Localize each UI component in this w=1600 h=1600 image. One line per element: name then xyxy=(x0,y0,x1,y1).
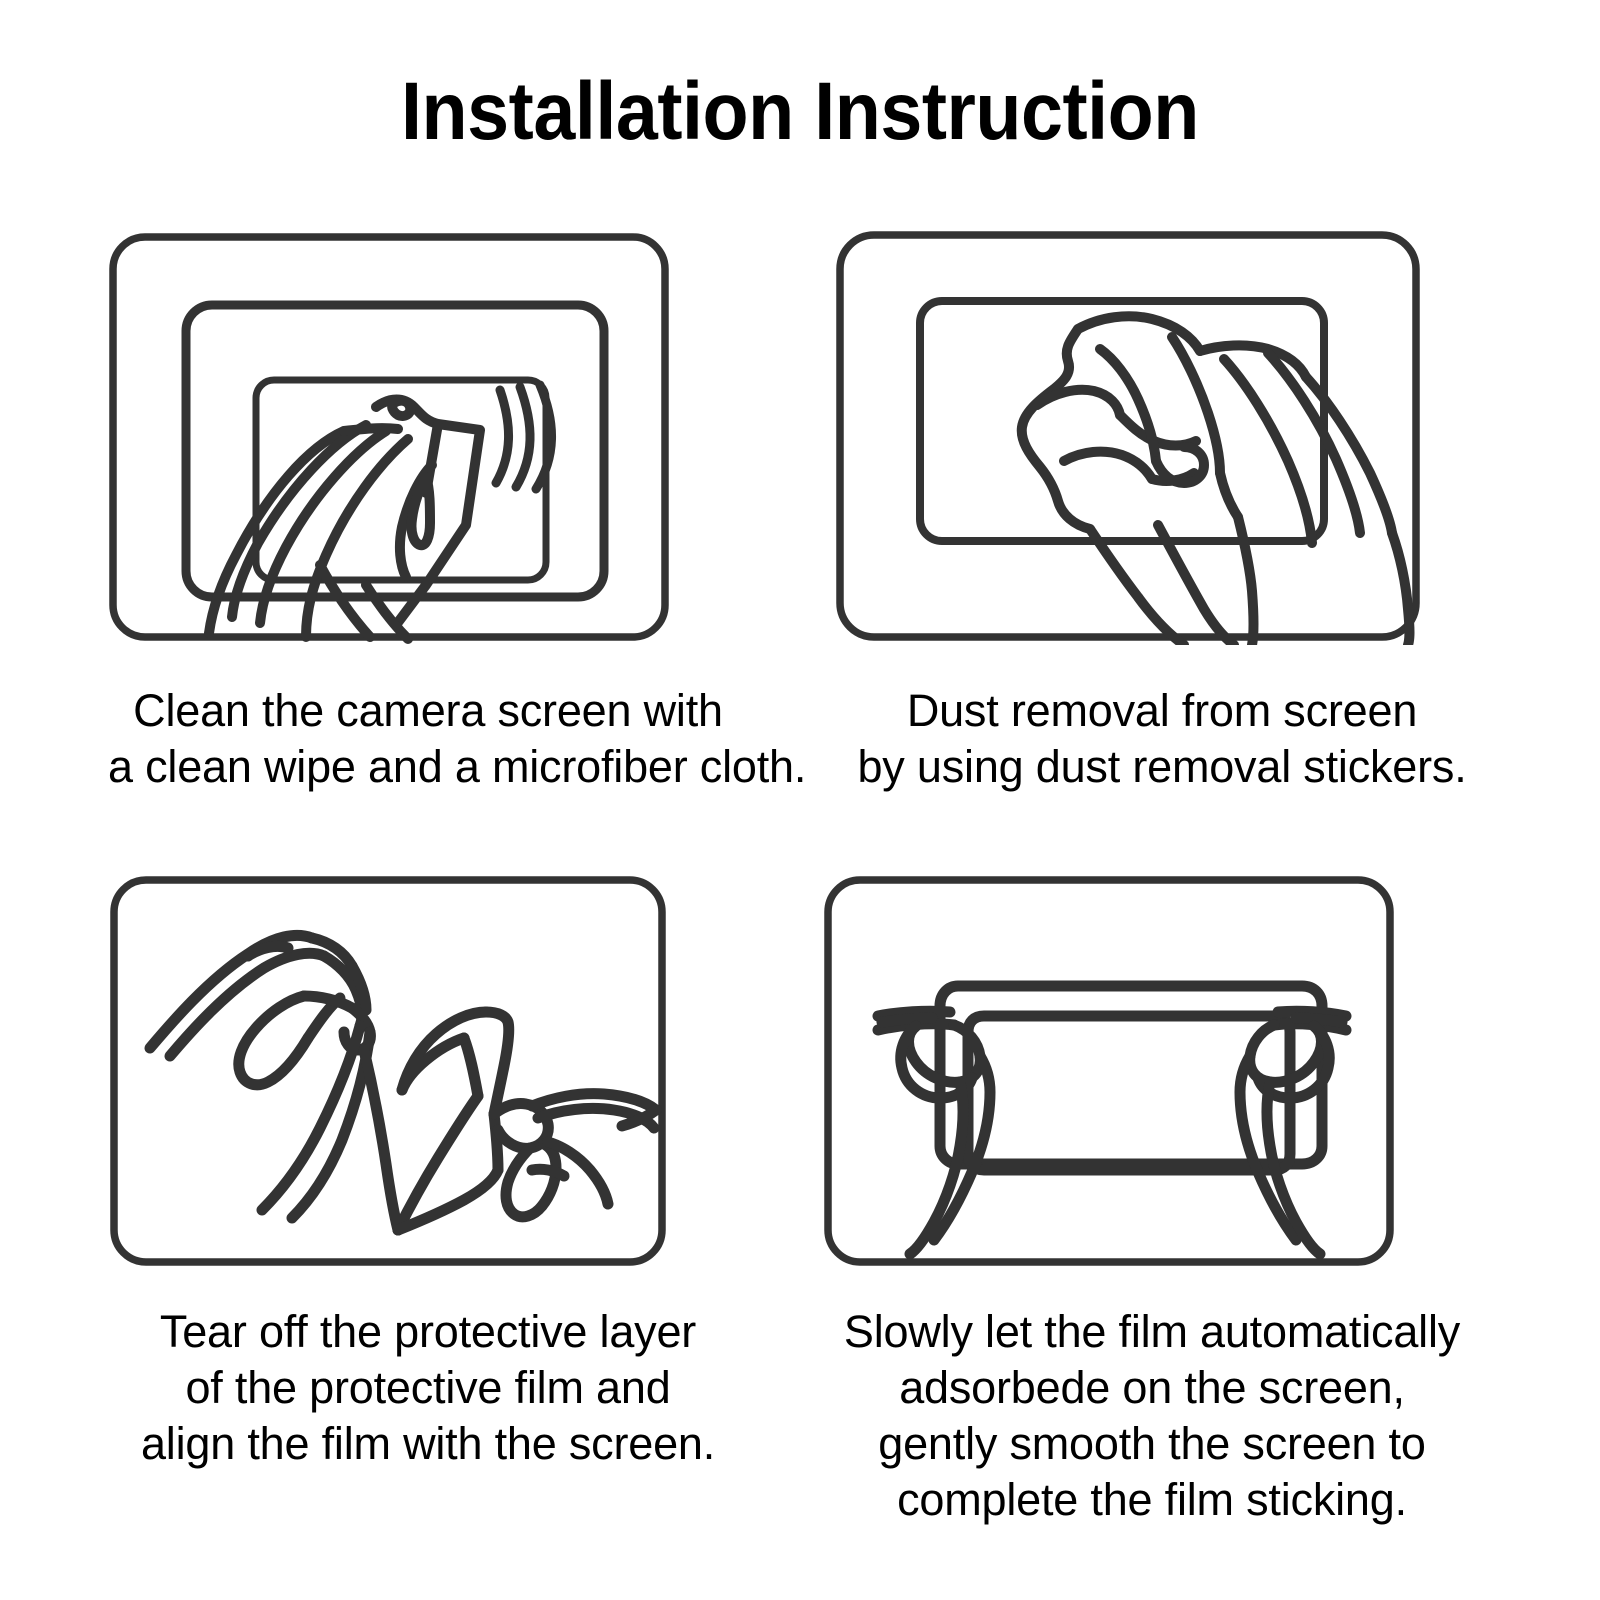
caption-line: gently smooth the screen to xyxy=(822,1416,1482,1472)
step-1-caption: Clean the camera screen with a clean wip… xyxy=(108,683,748,795)
step-3: Tear off the protective layer of the pro… xyxy=(108,870,748,1472)
hands-peeling-protective-layer-icon xyxy=(108,870,678,1270)
step-2: Dust removal from screen by using dust r… xyxy=(832,225,1492,795)
caption-line: by using dust removal stickers. xyxy=(832,739,1492,795)
step-1: Clean the camera screen with a clean wip… xyxy=(108,225,748,795)
caption-line: of the protective film and xyxy=(108,1360,748,1416)
steps-grid: Clean the camera screen with a clean wip… xyxy=(0,225,1600,1600)
caption-line: Tear off the protective layer xyxy=(108,1304,748,1360)
caption-line: adsorbede on the screen, xyxy=(822,1360,1482,1416)
step-4-caption: Slowly let the film automatically adsorb… xyxy=(822,1304,1482,1528)
step-4-illustration-panel xyxy=(822,870,1482,1270)
hands-holding-film-over-screen-icon xyxy=(822,870,1407,1270)
caption-line: Clean the camera screen with xyxy=(108,683,748,739)
caption-line: Slowly let the film automatically xyxy=(822,1304,1482,1360)
step-2-illustration-panel xyxy=(832,225,1492,645)
installation-instruction-sheet: Installation Instruction xyxy=(0,0,1600,1600)
hand-pressing-dust-removal-sticker-icon xyxy=(832,225,1432,645)
hand-wiping-camera-screen-with-cloth-icon xyxy=(108,225,678,645)
step-4: Slowly let the film automatically adsorb… xyxy=(822,870,1482,1528)
caption-line: complete the film sticking. xyxy=(822,1472,1482,1528)
step-2-caption: Dust removal from screen by using dust r… xyxy=(832,683,1492,795)
page-title: Installation Instruction xyxy=(64,66,1536,158)
caption-line: a clean wipe and a microfiber cloth. xyxy=(108,739,748,795)
step-3-illustration-panel xyxy=(108,870,748,1270)
step-3-caption: Tear off the protective layer of the pro… xyxy=(108,1304,748,1472)
caption-line: align the film with the screen. xyxy=(108,1416,748,1472)
caption-line: Dust removal from screen xyxy=(832,683,1492,739)
step-1-illustration-panel xyxy=(108,225,748,645)
